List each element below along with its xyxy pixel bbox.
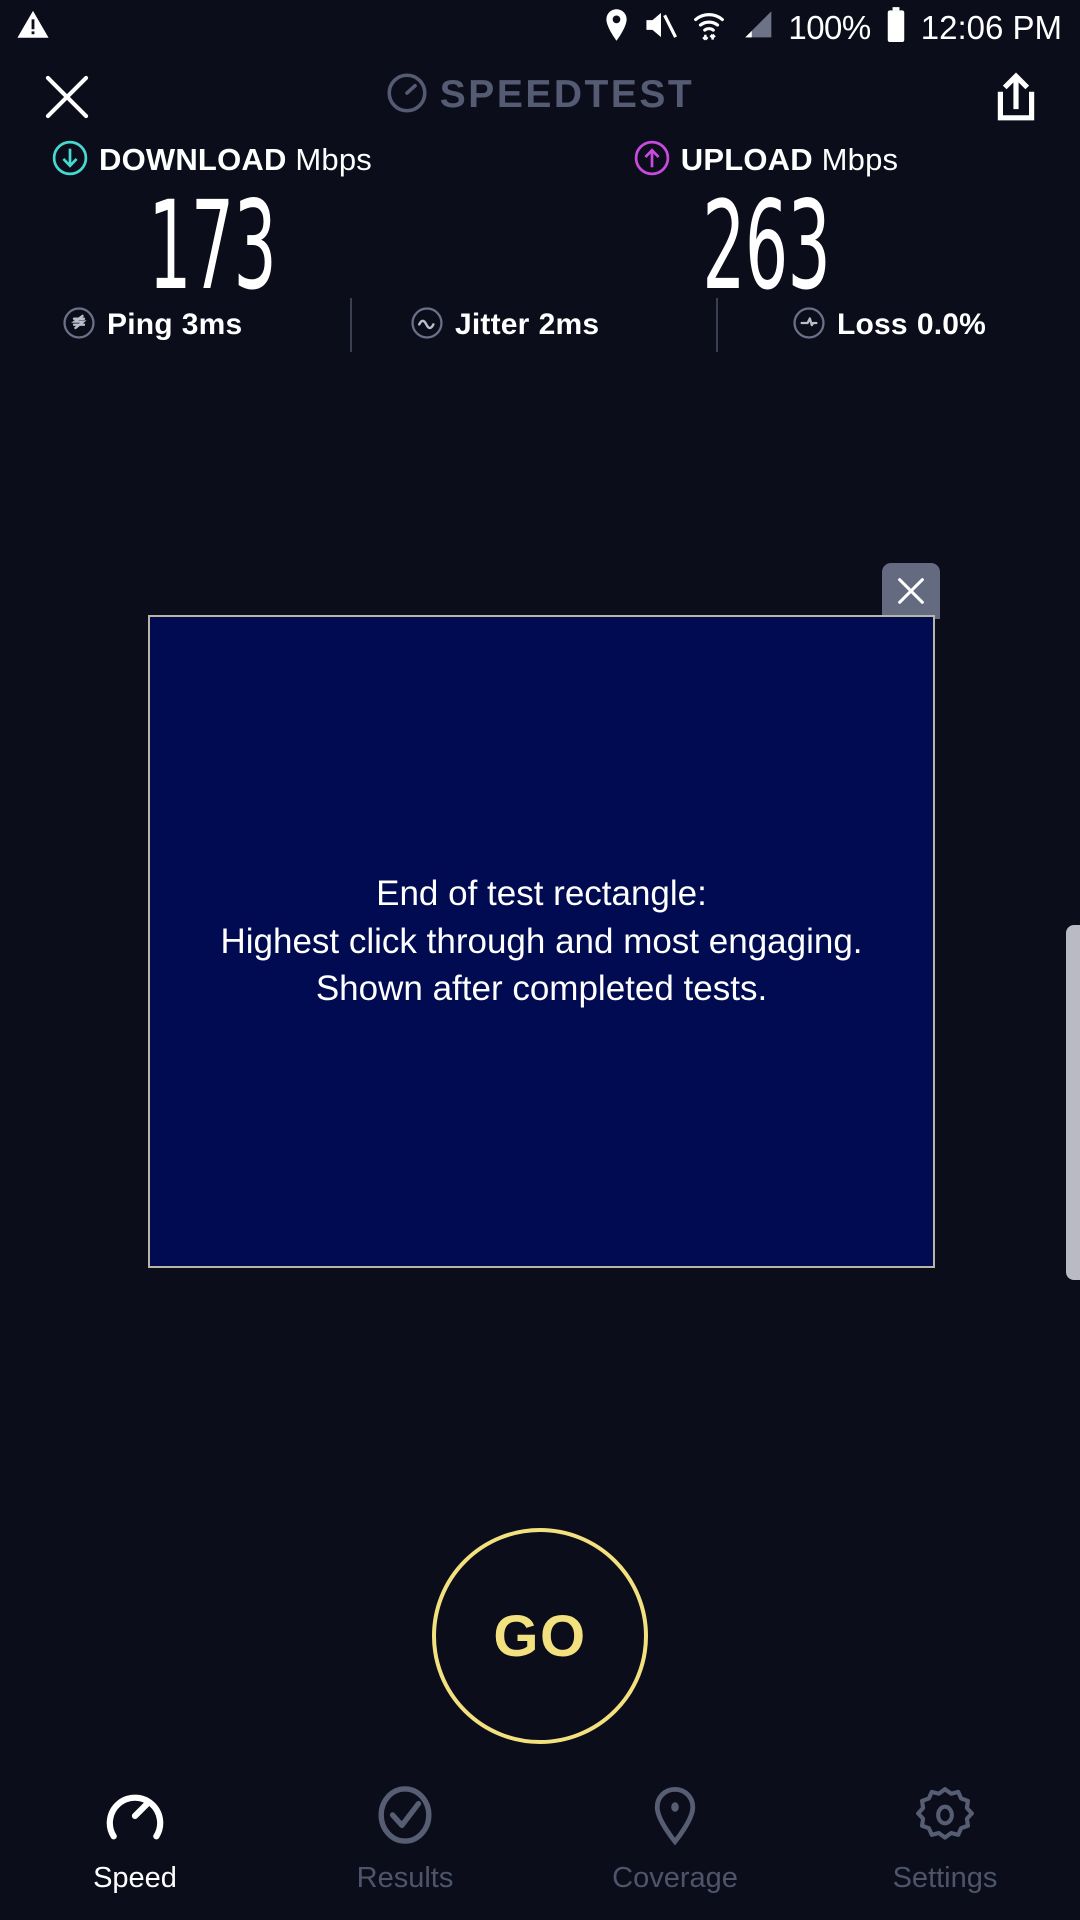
location-pin-icon: [603, 8, 630, 47]
go-button[interactable]: GO: [432, 1528, 648, 1744]
download-label: DOWNLOAD Mbps: [99, 142, 372, 178]
gear-icon: [914, 1784, 976, 1846]
metric-divider: [350, 298, 352, 352]
nav-label-settings: Settings: [893, 1862, 998, 1895]
loss-text: Loss0.0%: [837, 308, 986, 342]
metric-divider: [716, 298, 718, 352]
speedometer-icon: [386, 72, 428, 119]
app-brand: SPEEDTEST: [0, 55, 1080, 135]
nav-item-speed[interactable]: Speed: [0, 1770, 270, 1920]
download-arrow-icon: [52, 140, 88, 181]
advertisement-banner[interactable]: End of test rectangle: Highest click thr…: [148, 615, 935, 1268]
speedometer-icon: [104, 1784, 166, 1846]
metric-jitter: Jitter2ms: [410, 306, 599, 345]
metric-loss: Loss0.0%: [792, 306, 986, 345]
ad-text: End of test rectangle: Highest click thr…: [150, 870, 933, 1013]
map-pin-icon: [650, 1784, 700, 1846]
ad-close-button[interactable]: [882, 563, 940, 619]
battery-percent-label: 100%: [788, 9, 870, 47]
status-bar: 100% 12:06 PM: [0, 0, 1080, 55]
nav-label-results: Results: [357, 1862, 454, 1895]
nav-item-results[interactable]: Results: [270, 1770, 540, 1920]
ping-text: Ping3ms: [107, 308, 242, 342]
upload-label: UPLOAD Mbps: [681, 142, 899, 178]
close-icon[interactable]: [35, 65, 99, 129]
warning-triangle-icon: [16, 8, 50, 47]
jitter-text: Jitter2ms: [455, 308, 599, 342]
wifi-icon: [692, 8, 726, 47]
nav-label-coverage: Coverage: [612, 1862, 738, 1895]
nav-label-speed: Speed: [93, 1862, 177, 1895]
app-header: SPEEDTEST: [0, 55, 1080, 135]
network-metrics-row: Ping3ms Jitter2ms Loss0.0%: [0, 300, 1080, 350]
ad-line-3: Shown after completed tests.: [316, 969, 767, 1008]
loss-icon: [792, 306, 826, 345]
speedtest-app-screen: 100% 12:06 PM SPEEDTEST: [0, 0, 1080, 1920]
clock-label: 12:06 PM: [921, 9, 1062, 47]
upload-value: 263: [702, 194, 830, 299]
ad-line-2: Highest click through and most engaging.: [220, 922, 862, 961]
ping-icon: [62, 306, 96, 345]
go-button-label: GO: [493, 1603, 586, 1670]
share-icon[interactable]: [984, 65, 1048, 129]
mute-icon: [644, 9, 678, 46]
nav-item-settings[interactable]: Settings: [810, 1770, 1080, 1920]
metric-ping: Ping3ms: [62, 306, 242, 345]
test-results-summary: DOWNLOAD Mbps 173 UPLOAD Mbps 263: [0, 140, 1080, 299]
bottom-navigation: Speed Results Coverage: [0, 1770, 1080, 1920]
status-bar-icons: 100% 12:06 PM: [603, 0, 1062, 55]
upload-result: UPLOAD Mbps 263: [540, 140, 1080, 299]
nav-item-coverage[interactable]: Coverage: [540, 1770, 810, 1920]
download-value: 173: [148, 194, 276, 299]
ad-line-1: End of test rectangle:: [376, 874, 707, 913]
vertical-scrollbar[interactable]: [1066, 925, 1080, 1280]
app-title: SPEEDTEST: [440, 73, 694, 117]
check-circle-icon: [376, 1784, 434, 1846]
cellular-signal-icon: [740, 10, 774, 45]
battery-full-icon: [885, 7, 907, 48]
upload-arrow-icon: [634, 140, 670, 181]
download-result: DOWNLOAD Mbps 173: [0, 140, 540, 299]
jitter-icon: [410, 306, 444, 345]
